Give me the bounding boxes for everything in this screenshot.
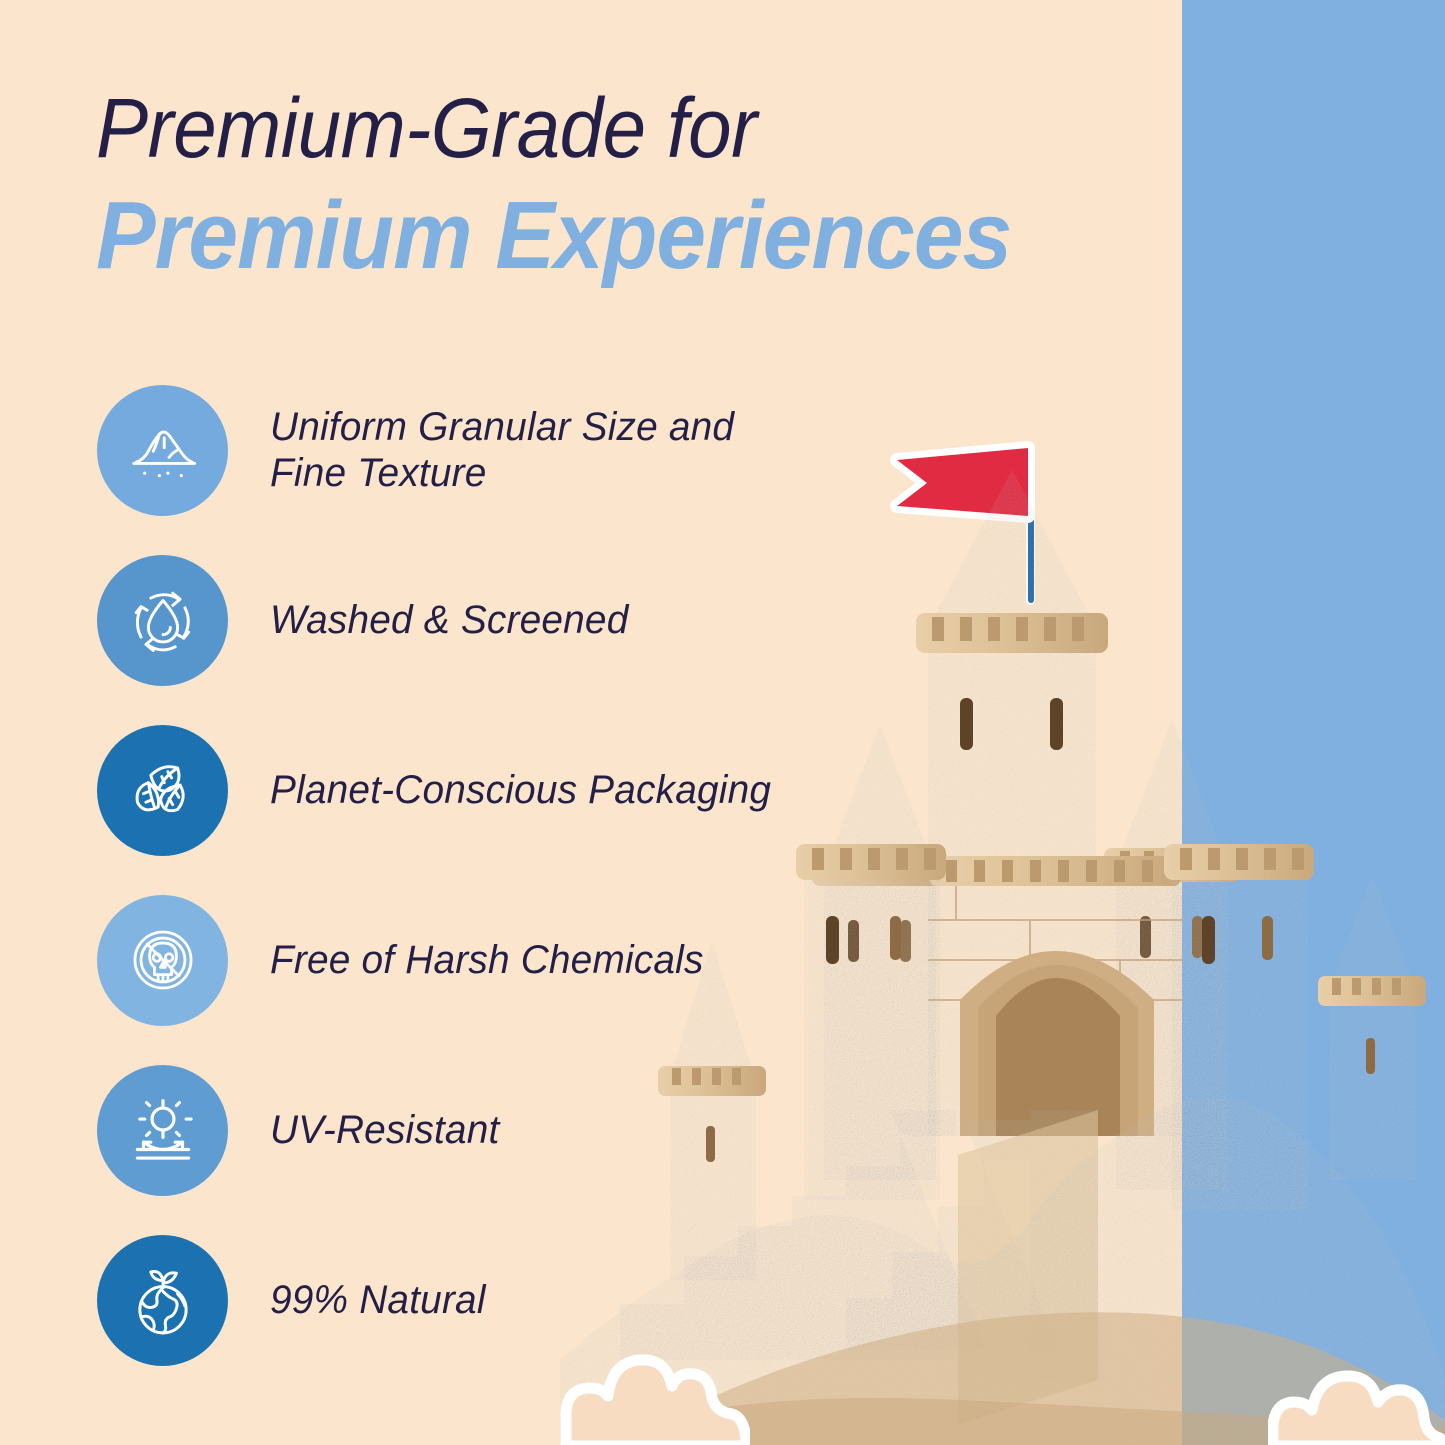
feature-label: Free of Harsh Chemicals — [270, 937, 704, 983]
tower-main-left — [796, 844, 946, 1200]
gatehouse — [928, 856, 1182, 1136]
feature-item-free-of-harsh-chemicals[interactable]: Free of Harsh Chemicals — [97, 895, 797, 1025]
headline-line-2: Premium Experiences — [96, 188, 1082, 284]
feature-label: Planet-Conscious Packaging — [270, 767, 771, 813]
globe-sprout-icon — [97, 1235, 228, 1366]
feature-item-99-percent-natural[interactable]: 99% Natural — [97, 1235, 797, 1365]
feature-item-washed-and-screened[interactable]: Washed & Screened — [97, 555, 797, 685]
no-skull-chemicals-icon — [97, 895, 228, 1026]
feature-label: 99% Natural — [270, 1277, 486, 1323]
tower-far-right — [1318, 875, 1426, 1180]
feature-label: UV-Resistant — [270, 1107, 499, 1153]
feature-item-planet-conscious-packaging[interactable]: Planet-Conscious Packaging — [97, 725, 797, 855]
headline-block: Premium-Grade for Premium Experiences — [96, 86, 1156, 284]
feature-item-uniform-granular-size[interactable]: Uniform Granular Size and Fine Texture — [97, 385, 797, 515]
water-drop-recycle-icon — [97, 555, 228, 686]
poster-canvas: Premium-Grade for Premium Experiences — [0, 0, 1445, 1445]
three-leaves-recycle-icon — [97, 725, 228, 856]
sun-uv-shield-icon — [97, 1065, 228, 1196]
feature-list: Uniform Granular Size and Fine Texture W… — [97, 385, 797, 1365]
feature-label: Uniform Granular Size and Fine Texture — [270, 404, 781, 497]
decorative-cloud-right — [1268, 1358, 1445, 1445]
feature-item-uv-resistant[interactable]: UV-Resistant — [97, 1065, 797, 1195]
headline-line-1: Premium-Grade for — [96, 86, 1082, 170]
central-keep — [916, 470, 1108, 860]
sand-dune-icon — [97, 385, 228, 516]
feature-label: Washed & Screened — [270, 597, 628, 643]
